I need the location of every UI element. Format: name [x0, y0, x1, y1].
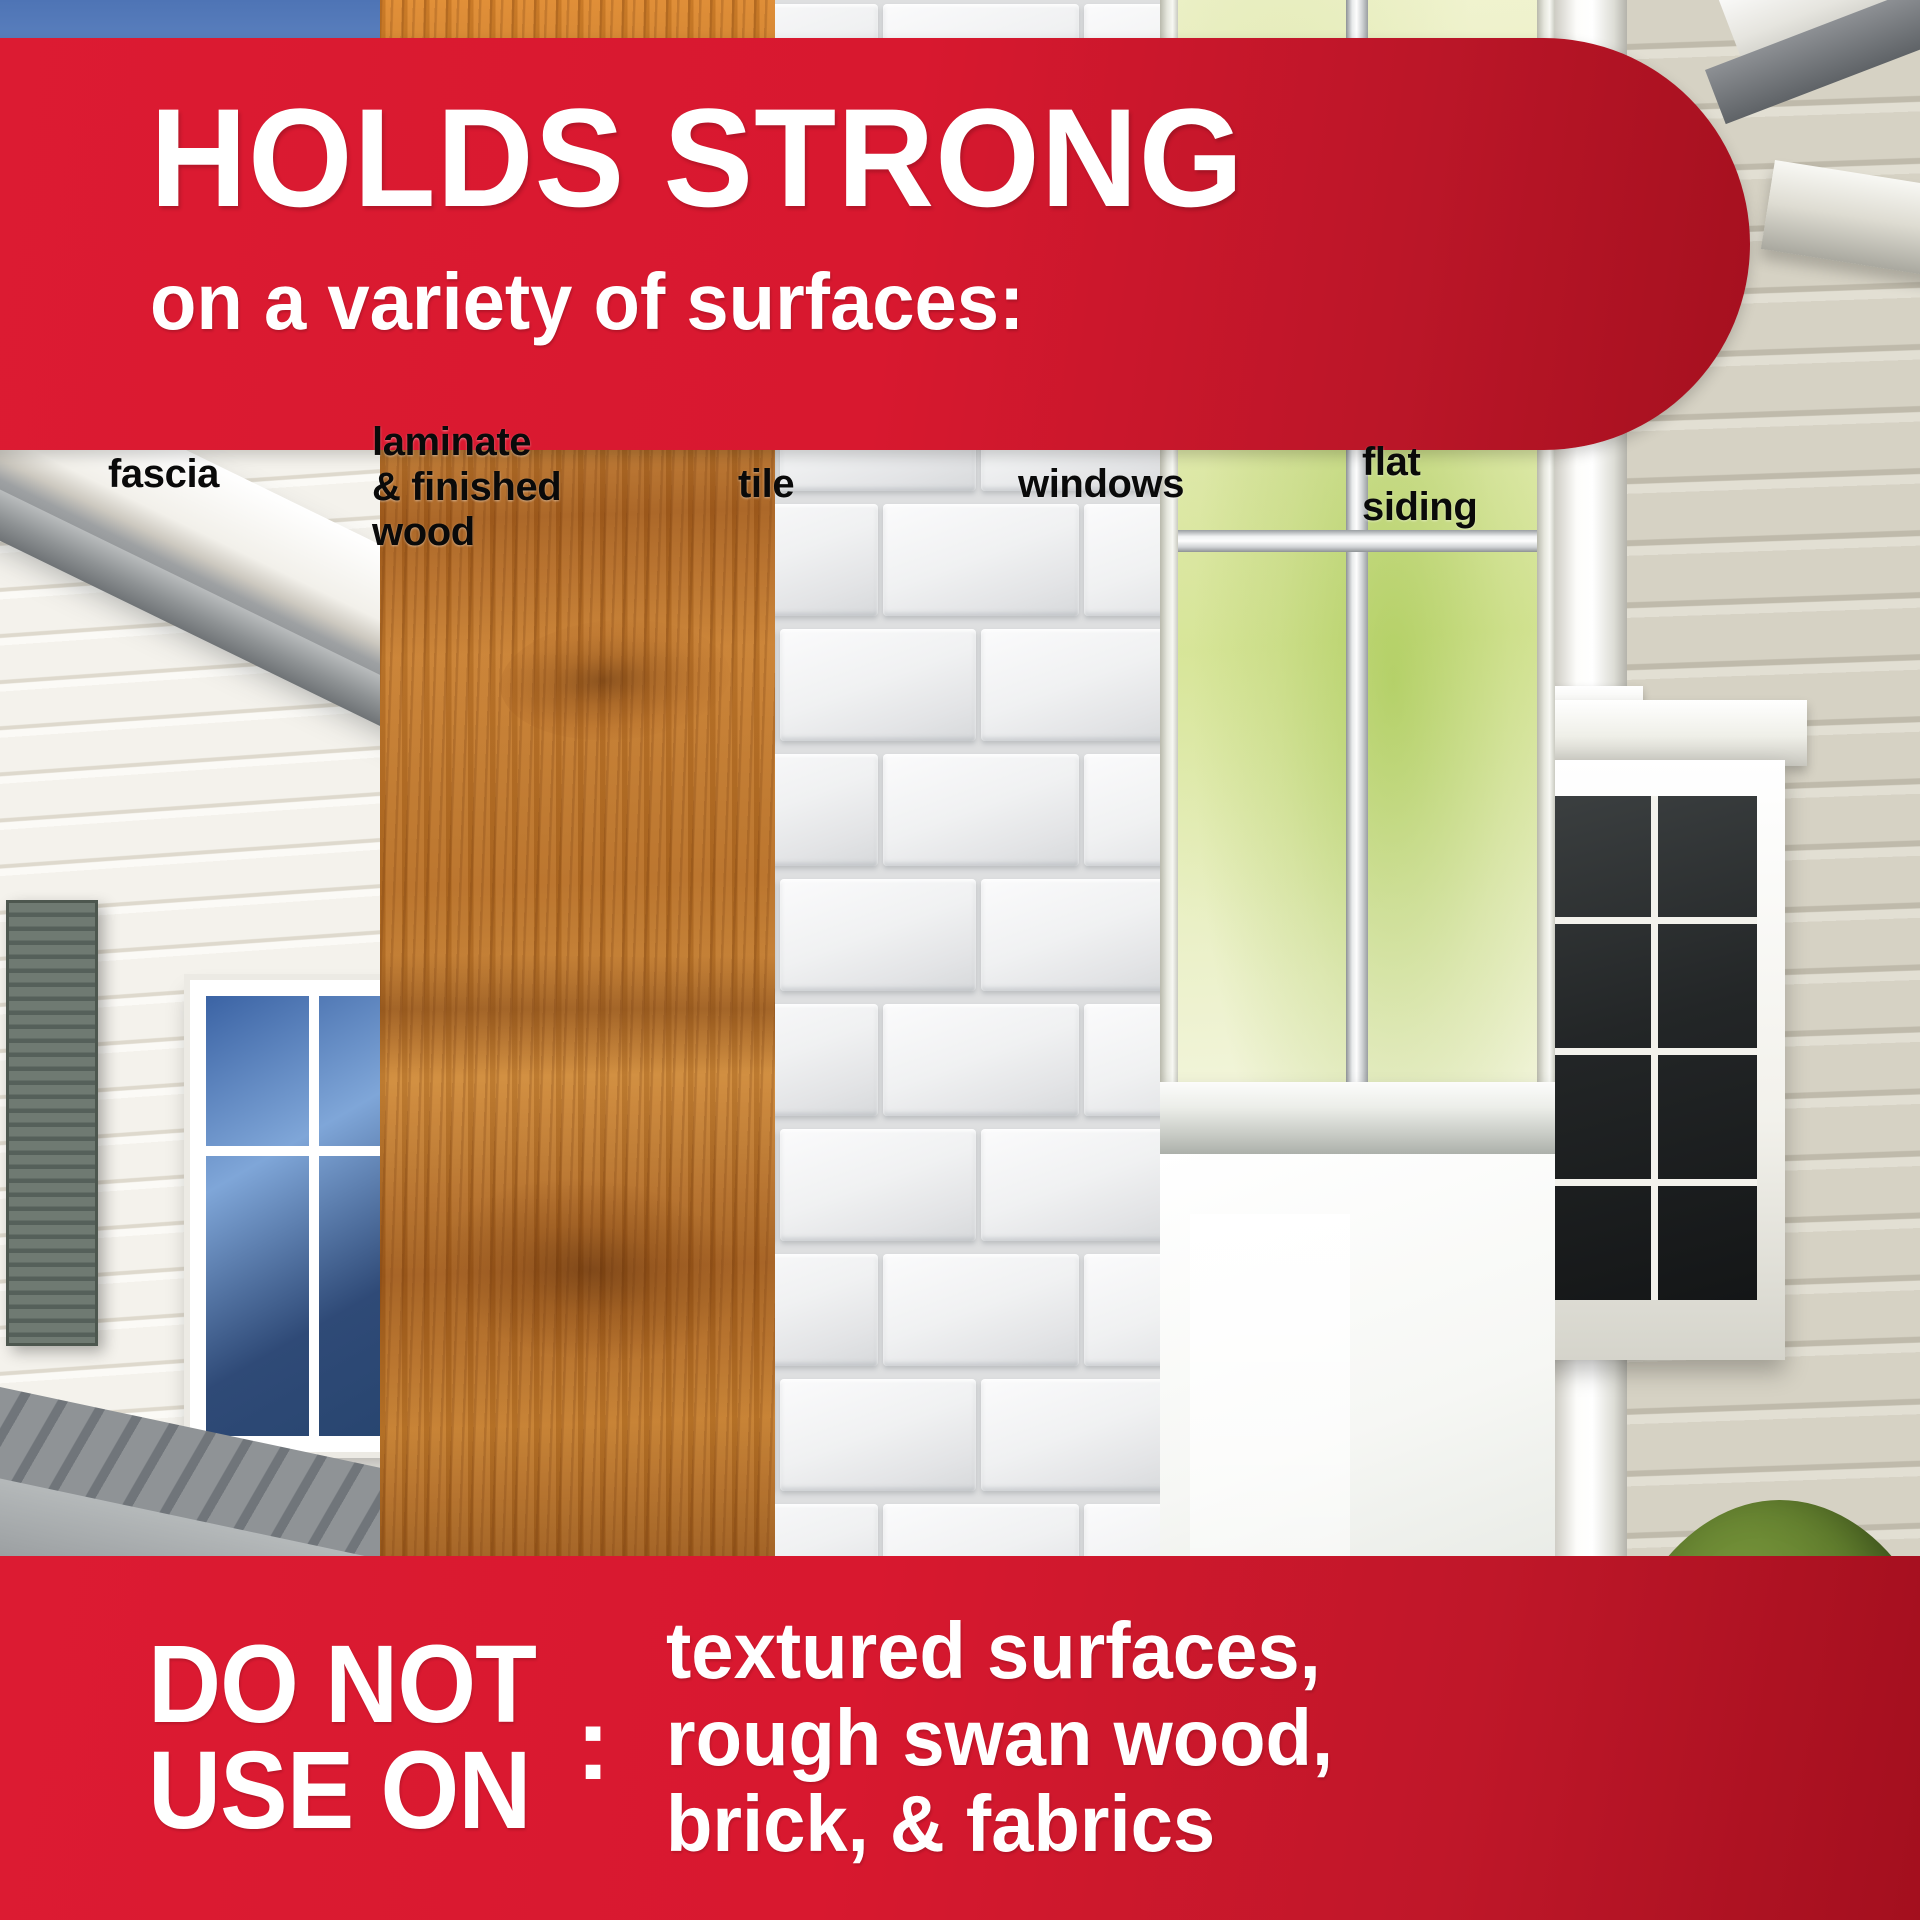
product-surface-infographic: HOLDS STRONG on a variety of surfaces: f… [0, 0, 1920, 1920]
bottom-red-banner: DO NOT USE ON : textured surfaces, rough… [0, 1556, 1920, 1920]
surface-label-fascia: fascia [108, 452, 219, 497]
surface-label-laminate-finished-wood: laminate & finished wood [372, 420, 561, 554]
do-not-use-on-colon: : [576, 1692, 611, 1796]
do-not-use-on-items: textured surfaces, rough swan wood, bric… [666, 1608, 1333, 1867]
do-not-use-on-label: DO NOT USE ON [148, 1632, 536, 1843]
surface-label-windows: windows [1018, 462, 1184, 507]
surface-label-tile: tile [738, 462, 794, 507]
surface-label-flat-siding: flat siding [1362, 440, 1477, 530]
